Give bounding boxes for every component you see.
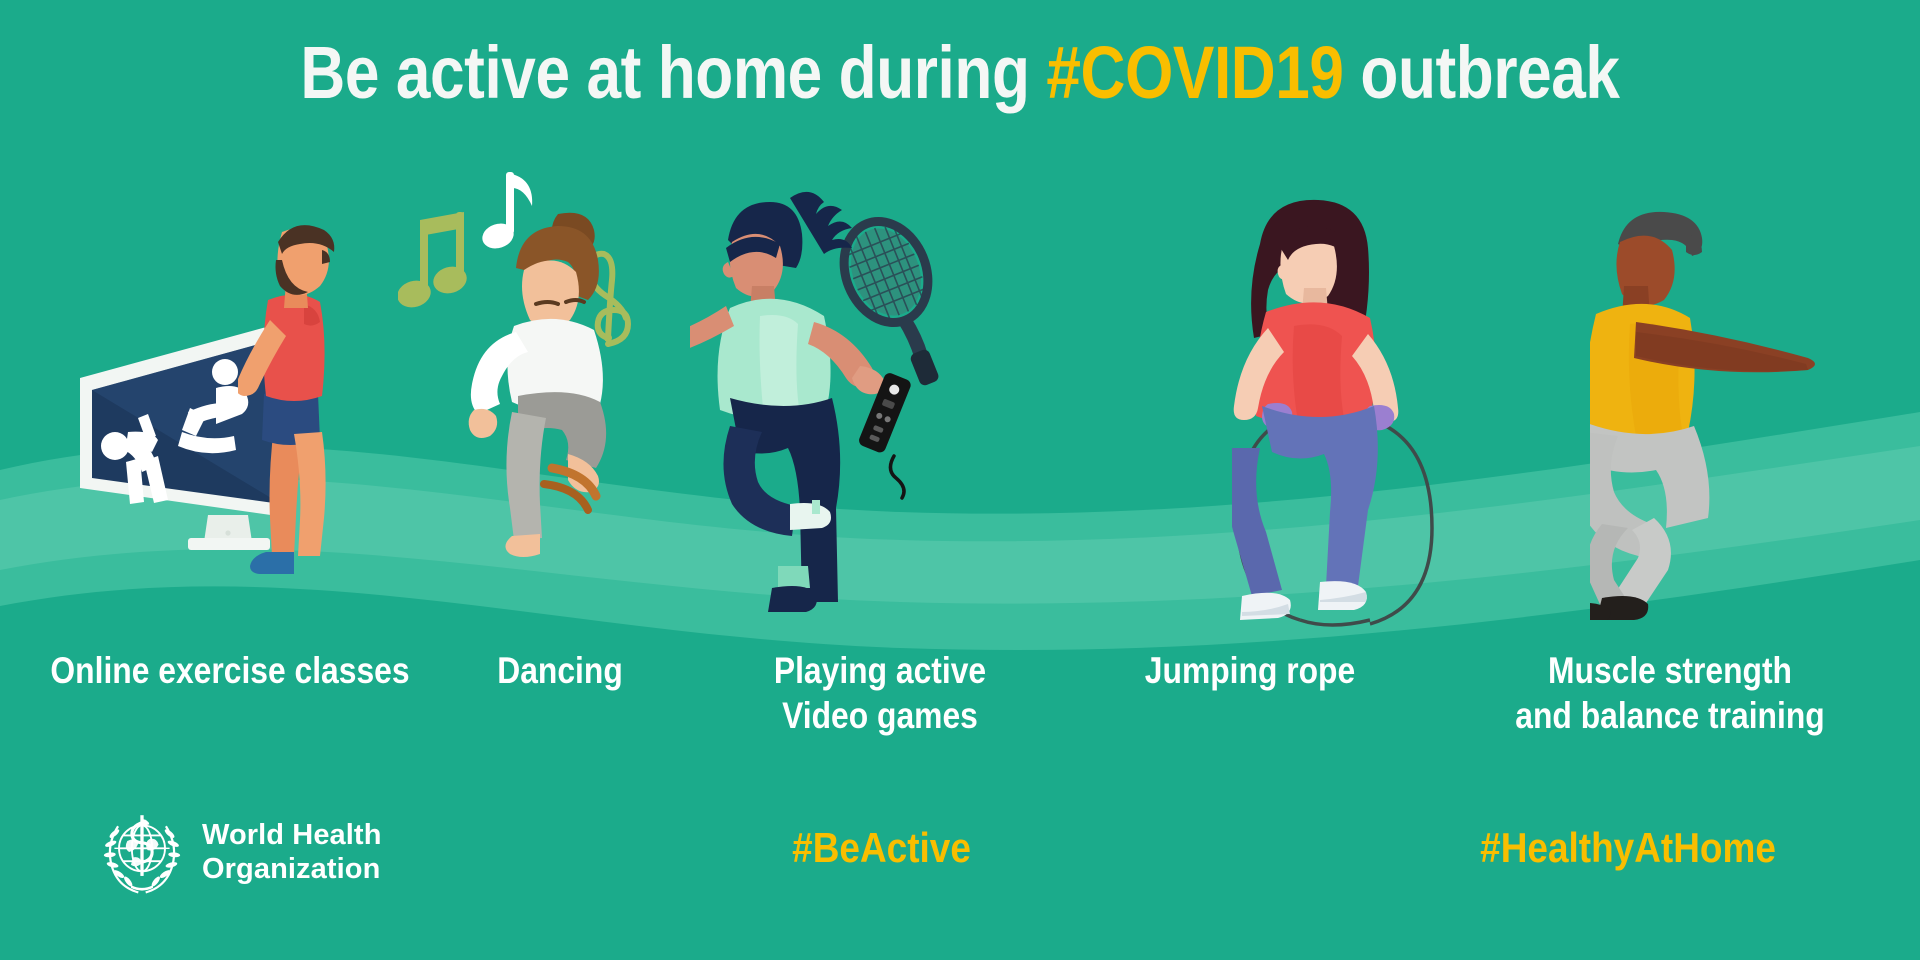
page-title: Be active at home during #COVID19 outbre…: [154, 34, 1767, 112]
label-line: Jumping rope: [1069, 648, 1430, 693]
hashtag-healthyathome[interactable]: #HealthyAtHome: [1480, 824, 1776, 872]
label-line: and balance training: [1455, 693, 1885, 738]
title-part-2: outbreak: [1344, 31, 1620, 114]
label-line: Online exercise classes: [32, 648, 428, 693]
footer: World Health Organization #BeActive #Hea…: [0, 800, 1920, 920]
dancing-person-icon: [440, 200, 640, 560]
label-online-exercise-classes: Online exercise classes: [32, 648, 428, 693]
label-jumping-rope: Jumping rope: [1069, 648, 1430, 693]
label-line: Muscle strength: [1455, 648, 1885, 693]
hashtag-beactive[interactable]: #BeActive: [792, 824, 971, 872]
game-controller-icon: [852, 370, 932, 500]
title-part-1: Be active at home during: [300, 31, 1046, 114]
label-playing-active-video-games: Playing active Video games: [708, 648, 1052, 738]
who-name-line-1: World Health: [202, 818, 382, 852]
label-line: Dancing: [422, 648, 697, 693]
title-hashtag-covid19: #COVID19: [1046, 31, 1343, 114]
who-organization-name: World Health Organization: [202, 818, 382, 886]
jump-rope-icon: [1232, 198, 1492, 628]
activity-labels: Online exercise classes Dancing Playing …: [0, 648, 1920, 778]
illustration-row: [0, 160, 1920, 620]
who-name-line-2: Organization: [202, 852, 382, 886]
label-line: Video games: [708, 693, 1052, 738]
standing-man-figure: [238, 208, 368, 598]
infographic-canvas: Be active at home during #COVID19 outbre…: [0, 0, 1920, 960]
label-muscle-strength-and-balance-training: Muscle strength and balance training: [1455, 648, 1885, 738]
label-dancing: Dancing: [422, 648, 697, 693]
who-logo: World Health Organization: [96, 806, 382, 898]
squat-person-icon: [1590, 200, 1880, 620]
label-line: Playing active: [708, 648, 1052, 693]
who-emblem: [96, 806, 188, 898]
